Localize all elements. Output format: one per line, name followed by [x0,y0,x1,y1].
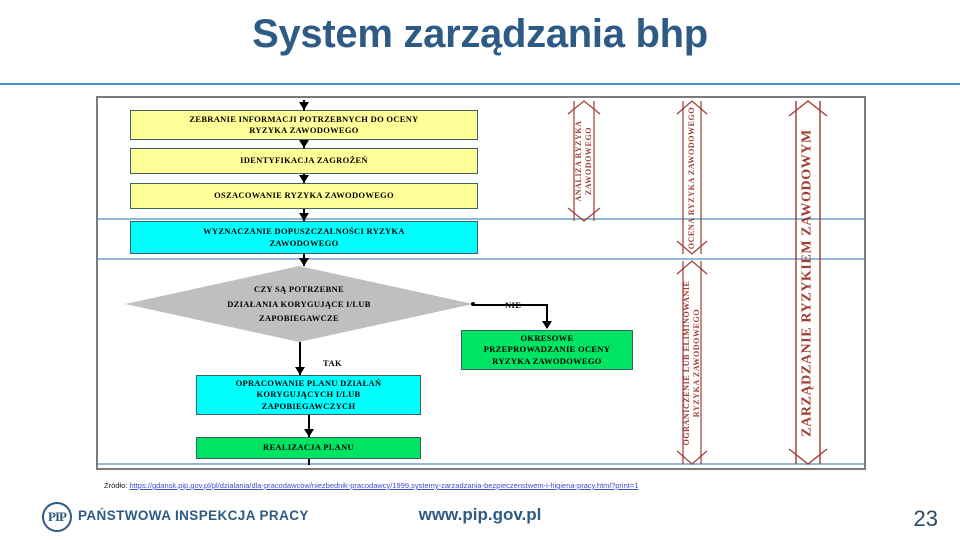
separator-line-2 [98,258,864,260]
arrow-into-diamond [299,258,309,266]
flow-box-text: IDENTYFIKACJA ZAGROŻEŃ [240,155,368,166]
flow-box-text: WYZNACZANIE DOPUSZCZALNOŚCI RYZYKA ZAWOD… [203,226,405,249]
source-url-link[interactable]: https://gdansk.pip.gov.pl/pl/dzialania/d… [129,481,638,490]
page-number: 23 [914,506,938,532]
arrow-into-box2 [299,140,309,148]
arrow-into-action-plan [295,367,305,375]
flow-box-text: OSZACOWANIE RYZYKA ZAWODOWEGO [214,190,394,201]
footer-website[interactable]: www.pip.gov.pl [0,505,960,525]
decision-diamond[interactable]: CZY SĄ POTRZEBNE DZIAŁANIA KORYGUJĄCE I/… [125,266,473,342]
arrow-into-box4 [299,213,309,221]
arrow-into-periodic-assessment [542,321,552,329]
flow-box-text: ZEBRANIE INFORMACJI POTRZEBNYCH DO OCENY… [189,114,418,137]
page-title: System zarządzania bhp [0,12,960,56]
source-label: Źródło: [104,481,127,490]
title-divider [0,83,960,85]
bracket-label: ZARZĄDZANIE RYZYKIEM ZAWODOWYM [800,129,817,437]
bracket-label: OGRANICZENIE LUB ELIMINOWANIE RYZYKA ZAW… [682,280,702,445]
flow-box-action-plan[interactable]: OPRACOWANIE PLANU DZIAŁAŃ KORYGUJĄCYCH I… [196,375,421,415]
bracket-risk-assessment: OCENA RYZYKA ZAWODOWEGO [675,100,709,255]
bracket-label: OCENA RYZYKA ZAWODOWEGO [687,106,697,248]
diamond-text: CZY SĄ POTRZEBNE DZIAŁANIA KORYGUJĄCE I/… [125,266,473,342]
arrow-into-execution [304,429,314,437]
bracket-risk-analysis: ANALIZA RYZYKA ZAWODOWEGO [565,100,603,222]
slide-canvas: System zarządzania bhp ZEBRANIE INFORMAC… [0,0,960,540]
bracket-risk-management: ZARZĄDZANIE RYZYKIEM ZAWODOWYM [786,100,830,465]
flow-box-risk-estimation[interactable]: OSZACOWANIE RYZYKA ZAWODOWEGO [130,183,478,209]
bracket-risk-reduction: OGRANICZENIE LUB ELIMINOWANIE RYZYKA ZAW… [675,260,709,465]
flow-box-text: OKRESOWE PRZEPROWADZANIE OCENY RYZYKA ZA… [484,333,611,367]
source-line: Źródło: https://gdansk.pip.gov.pl/pl/dzi… [104,481,638,490]
bracket-label: ANALIZA RYZYKA ZAWODOWEGO [574,120,594,201]
flow-box-text: REALIZACJA PLANU [263,442,354,453]
separator-line-3 [98,463,864,465]
branch-label-no: NIE [505,300,521,310]
flow-box-text: OPRACOWANIE PLANU DZIAŁAŃ KORYGUJĄCYCH I… [236,378,382,412]
connector-execution-bottom [308,459,310,465]
arrow-into-box1 [299,102,309,110]
flow-box-gather-information[interactable]: ZEBRANIE INFORMACJI POTRZEBNYCH DO OCENY… [130,110,478,140]
flow-box-risk-acceptability[interactable]: WYZNACZANIE DOPUSZCZALNOŚCI RYZYKA ZAWOD… [130,221,478,254]
flow-box-hazard-identification[interactable]: IDENTYFIKACJA ZAGROŻEŃ [130,148,478,174]
arrow-into-box3 [299,175,309,183]
flow-box-periodic-assessment[interactable]: OKRESOWE PRZEPROWADZANIE OCENY RYZYKA ZA… [461,330,633,370]
branch-label-yes: TAK [323,358,342,368]
flow-box-plan-execution[interactable]: REALIZACJA PLANU [196,437,421,459]
separator-line-1 [98,218,864,220]
